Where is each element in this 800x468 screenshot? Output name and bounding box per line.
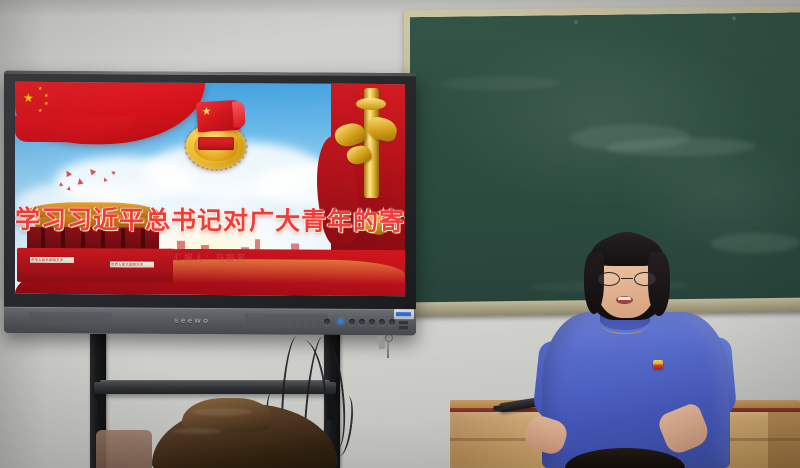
- panel-power-button[interactable]: [324, 319, 330, 325]
- panel-screen[interactable]: ★ ★ ★ ★ ★ ★: [15, 82, 405, 296]
- presenter: [536, 232, 736, 468]
- glasses-bridge: [621, 278, 633, 279]
- pillar-capital: [356, 98, 386, 110]
- panel-label-sticker: [394, 309, 414, 319]
- panel-usb-port[interactable]: [399, 321, 408, 324]
- dove-icon: [67, 186, 72, 191]
- hair-highlight: [172, 428, 222, 434]
- presenter-shirt: [542, 312, 730, 468]
- key-ring-icon: [385, 334, 393, 342]
- slide-title: 学习习近平总书记对广大青年的寄语: [15, 200, 405, 238]
- board-screw: [574, 20, 578, 24]
- dove-icon: [76, 178, 83, 185]
- panel-speaker-right: [244, 313, 328, 328]
- interactive-flat-panel[interactable]: ★ ★ ★ ★ ★ ★: [4, 71, 416, 336]
- panel-button-enter[interactable]: [389, 319, 395, 325]
- dove-icon: [59, 182, 63, 186]
- board-screw: [732, 16, 736, 20]
- panel-button-down[interactable]: [379, 319, 385, 325]
- panel-speaker-left: [28, 312, 112, 327]
- flag-star-large: ★: [23, 92, 34, 104]
- stand-bracket-left: [98, 394, 106, 420]
- emblem-red-flag: ★: [196, 100, 242, 133]
- classroom-chair: [96, 430, 152, 468]
- youth-league-badge-pin: [653, 360, 663, 369]
- flag-star-small: ★: [44, 102, 48, 107]
- hanging-key-icon: [387, 342, 389, 358]
- panel-button-source[interactable]: [359, 319, 365, 325]
- glasses-lens-right: [634, 272, 656, 286]
- classroom-scene: ★ ★ ★ ★ ★ ★: [0, 0, 800, 468]
- hair-highlight: [192, 408, 252, 416]
- presentation-slide: ★ ★ ★ ★ ★ ★: [15, 82, 405, 296]
- slide-subtitle: 汇报人：马碧芳: [15, 250, 405, 265]
- emblem-text-band: [198, 137, 234, 150]
- presenter-mouth: [616, 296, 633, 304]
- flag-star-small: ★: [38, 87, 42, 92]
- panel-brand-logo: seewo: [174, 316, 210, 325]
- communist-youth-league-emblem: ★: [183, 101, 249, 171]
- glasses-icon: [598, 272, 656, 286]
- panel-hdmi-port[interactable]: [399, 326, 408, 329]
- panel-button-menu[interactable]: [349, 319, 355, 325]
- flag-star-small: ★: [38, 109, 42, 114]
- panel-button-up[interactable]: [369, 319, 375, 325]
- student-foreground-left: [152, 398, 342, 468]
- glasses-lens-left: [598, 272, 620, 286]
- flag-star-small: ★: [44, 94, 48, 99]
- emblem-star-icon: ★: [201, 107, 212, 119]
- panel-power-led: [338, 319, 343, 324]
